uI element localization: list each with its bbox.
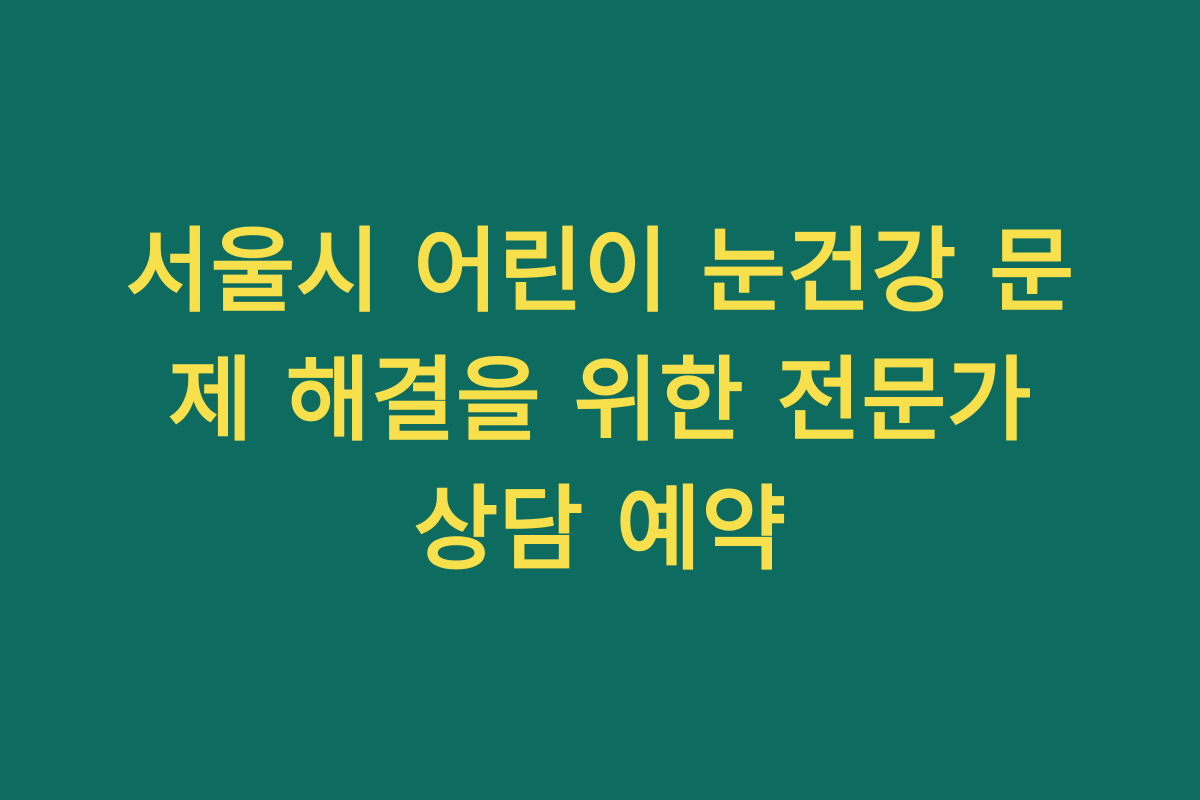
headline-line-3: 상담 예약 xyxy=(94,465,1106,594)
title-card-banner: 서울시 어린이 눈건강 문 제 해결을 위한 전문가 상담 예약 xyxy=(0,0,1200,800)
page-title: 서울시 어린이 눈건강 문 제 해결을 위한 전문가 상담 예약 xyxy=(94,207,1106,594)
headline-line-1: 서울시 어린이 눈건강 문 xyxy=(94,207,1106,336)
headline-line-2: 제 해결을 위한 전문가 xyxy=(94,336,1106,465)
headline-block: 서울시 어린이 눈건강 문 제 해결을 위한 전문가 상담 예약 xyxy=(94,207,1106,594)
